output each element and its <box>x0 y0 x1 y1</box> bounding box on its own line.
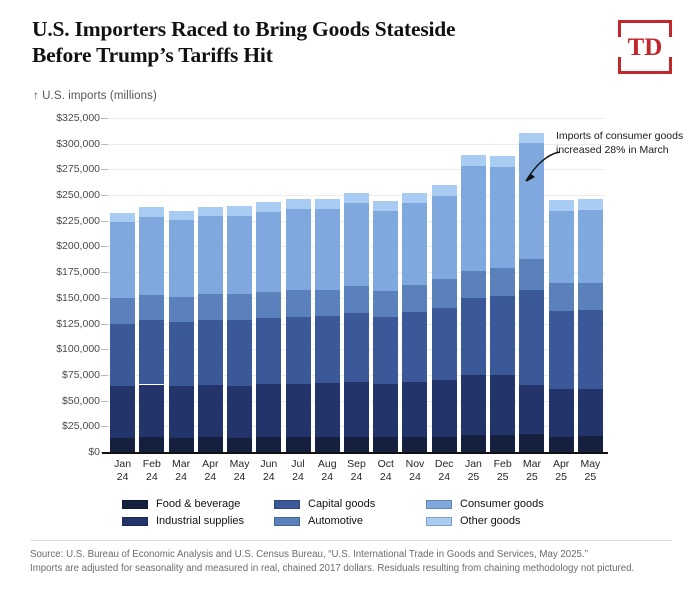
bar-segment-other-goods <box>286 199 311 209</box>
x-axis-labels: Jan24Feb24Mar24Apr24May24Jun24Jul24Aug24… <box>108 458 605 488</box>
y-axis-tick-label: $25,000 <box>4 421 100 431</box>
bar-segment-capital-goods <box>110 324 135 387</box>
legend-label: Industrial supplies <box>156 515 244 527</box>
bar-segment-capital-goods <box>490 296 515 375</box>
bar-segment-other-goods <box>402 193 427 203</box>
bar-segment-automotive <box>549 283 574 311</box>
bar-segment-capital-goods <box>373 317 398 384</box>
bar-segment-industrial-supplies <box>549 389 574 436</box>
legend-swatch <box>122 517 148 526</box>
legend-label: Capital goods <box>308 498 375 510</box>
y-axis-tick-mark <box>101 426 108 427</box>
bar-segment-automotive <box>490 268 515 296</box>
bar-segment-other-goods <box>519 133 544 143</box>
bar-segment-automotive <box>373 291 398 317</box>
bar-segment-industrial-supplies <box>402 382 427 436</box>
bar-segment-other-goods <box>315 199 340 209</box>
bar-segment-automotive <box>402 285 427 312</box>
x-axis-tick-label: May25 <box>570 458 610 483</box>
legend-item-consumer-goods[interactable]: Consumer goods <box>426 498 578 510</box>
bar-segment-industrial-supplies <box>169 386 194 438</box>
bar-segment-capital-goods <box>461 298 486 375</box>
legend-row-1: Food & beverageCapital goodsConsumer goo… <box>122 498 578 510</box>
bar-segment-other-goods <box>139 207 164 217</box>
legend-item-capital-goods[interactable]: Capital goods <box>274 498 426 510</box>
footer-divider <box>30 540 672 541</box>
bar-segment-capital-goods <box>227 320 252 385</box>
y-axis-tick-label: $125,000 <box>4 319 100 329</box>
bar-segment-capital-goods <box>139 320 164 384</box>
bar-segment-consumer-goods <box>461 166 486 271</box>
bar-segment-food-beverage <box>549 437 574 452</box>
y-axis-tick-label: $325,000 <box>4 113 100 123</box>
y-axis-tick-label: $300,000 <box>4 139 100 149</box>
bar-segment-industrial-supplies <box>461 375 486 435</box>
bar-segment-automotive <box>578 283 603 310</box>
y-axis-tick-mark <box>101 118 108 119</box>
bar-segment-food-beverage <box>315 437 340 452</box>
legend-row-2: Industrial suppliesAutomotiveOther goods <box>122 515 578 527</box>
legend-label: Food & beverage <box>156 498 240 510</box>
bar-segment-industrial-supplies <box>432 380 457 437</box>
bar-segment-automotive <box>169 297 194 322</box>
bar-segment-consumer-goods <box>139 217 164 295</box>
bar-segment-capital-goods <box>578 310 603 389</box>
bar-segment-automotive <box>519 259 544 290</box>
source-line-2: Imports are adjusted for seasonality and… <box>30 562 678 576</box>
bar-segment-automotive <box>344 286 369 313</box>
y-axis-tick-label: $200,000 <box>4 241 100 251</box>
x-axis-line <box>102 452 608 454</box>
legend-swatch <box>122 500 148 509</box>
bar-segment-consumer-goods <box>256 212 281 292</box>
legend-swatch <box>274 517 300 526</box>
bar-segment-food-beverage <box>139 437 164 452</box>
bar-segment-other-goods <box>549 200 574 210</box>
source-note: Source: U.S. Bureau of Economic Analysis… <box>30 548 678 575</box>
legend-item-food-beverage[interactable]: Food & beverage <box>122 498 274 510</box>
bar-segment-capital-goods <box>256 318 281 384</box>
y-axis-tick-label: $150,000 <box>4 293 100 303</box>
bar-segment-industrial-supplies <box>315 383 340 437</box>
bar-segment-automotive <box>256 292 281 318</box>
legend-item-industrial-supplies[interactable]: Industrial supplies <box>122 515 274 527</box>
bar-segment-automotive <box>461 271 486 298</box>
bar-segment-industrial-supplies <box>373 384 398 437</box>
bar-segment-consumer-goods <box>549 211 574 284</box>
y-axis-tick-mark <box>101 169 108 170</box>
bar-segment-consumer-goods <box>198 216 223 294</box>
y-axis-tick-label: $100,000 <box>4 344 100 354</box>
y-axis-tick-label: $50,000 <box>4 396 100 406</box>
bar-segment-food-beverage <box>373 437 398 452</box>
legend-label: Consumer goods <box>460 498 544 510</box>
bar-segment-capital-goods <box>519 290 544 385</box>
y-axis-tick-label: $175,000 <box>4 267 100 277</box>
bar-segment-food-beverage <box>578 436 603 452</box>
bar-segment-other-goods <box>110 213 135 222</box>
y-axis-tick-mark <box>101 401 108 402</box>
bar-segment-consumer-goods <box>110 222 135 299</box>
bar-segment-other-goods <box>578 199 603 210</box>
annotation-line-2: increased 28% in March <box>556 144 700 158</box>
bar-segment-other-goods <box>373 201 398 210</box>
bar-segment-food-beverage <box>169 438 194 452</box>
y-axis-tick-mark <box>101 349 108 350</box>
legend-item-automotive[interactable]: Automotive <box>274 515 426 527</box>
bar-segment-consumer-goods <box>315 209 340 290</box>
y-axis-tick-mark <box>101 144 108 145</box>
chart-legend: Food & beverageCapital goodsConsumer goo… <box>0 498 700 527</box>
legend-swatch <box>426 500 452 509</box>
bar-segment-consumer-goods <box>373 211 398 291</box>
bar-segment-automotive <box>286 290 311 317</box>
bar-segment-consumer-goods <box>578 210 603 283</box>
chart-page: U.S. Importers Raced to Bring Goods Stat… <box>0 0 700 594</box>
y-axis-tick-label: $275,000 <box>4 164 100 174</box>
legend-swatch <box>426 517 452 526</box>
bar-segment-food-beverage <box>344 437 369 452</box>
legend-label: Automotive <box>308 515 363 527</box>
bar-segment-other-goods <box>432 185 457 196</box>
y-axis-tick-mark <box>101 221 108 222</box>
x-label-month: May <box>570 458 610 471</box>
y-axis-tick-mark <box>101 246 108 247</box>
y-axis-tick-mark <box>101 195 108 196</box>
y-axis-tick-label: $0 <box>4 447 100 457</box>
bar-segment-food-beverage <box>519 434 544 452</box>
bar-segment-food-beverage <box>110 438 135 452</box>
bar-segment-consumer-goods <box>227 216 252 295</box>
bar-segment-automotive <box>315 290 340 316</box>
bar-segment-capital-goods <box>344 313 369 382</box>
chart-annotation: Imports of consumer goods increased 28% … <box>556 130 700 157</box>
bar-segment-automotive <box>227 294 252 320</box>
bar-segment-consumer-goods <box>402 203 427 285</box>
y-axis-tick-mark <box>101 272 108 273</box>
bar-segment-other-goods <box>461 155 486 166</box>
bar-segment-capital-goods <box>169 322 194 386</box>
bar-segment-capital-goods <box>198 320 223 385</box>
bar-segment-other-goods <box>198 207 223 216</box>
bar-segment-automotive <box>432 279 457 308</box>
bar-segment-industrial-supplies <box>344 382 369 436</box>
bar-segment-automotive <box>198 294 223 320</box>
y-axis-tick-label: $75,000 <box>4 370 100 380</box>
bar-segment-industrial-supplies <box>110 386 135 437</box>
y-axis-tick-mark <box>101 324 108 325</box>
bar-segment-food-beverage <box>432 437 457 452</box>
y-axis-tick-label: $225,000 <box>4 216 100 226</box>
y-axis-tick-mark <box>101 375 108 376</box>
y-axis-tick-mark <box>101 298 108 299</box>
bar-segment-industrial-supplies <box>198 385 223 437</box>
bar-segment-industrial-supplies <box>490 375 515 434</box>
bar-segment-consumer-goods <box>286 209 311 290</box>
bar-segment-other-goods <box>169 211 194 220</box>
bar-segment-consumer-goods <box>344 203 369 286</box>
bar-segment-capital-goods <box>432 308 457 380</box>
bar-segment-other-goods <box>256 202 281 211</box>
bar-segment-food-beverage <box>198 437 223 452</box>
bar-segment-industrial-supplies <box>578 389 603 437</box>
legend-swatch <box>274 500 300 509</box>
bar-segment-capital-goods <box>286 317 311 384</box>
bar-segment-capital-goods <box>315 316 340 383</box>
bar-segment-automotive <box>139 295 164 321</box>
bar-segment-food-beverage <box>256 437 281 452</box>
bar-segment-other-goods <box>344 193 369 203</box>
annotation-line-1: Imports of consumer goods <box>556 130 700 144</box>
bar-segment-industrial-supplies <box>139 385 164 438</box>
legend-label: Other goods <box>460 515 521 527</box>
bar-segment-capital-goods <box>549 311 574 389</box>
bar-segment-food-beverage <box>461 435 486 452</box>
bar-segment-automotive <box>110 298 135 323</box>
bar-segment-capital-goods <box>402 312 427 382</box>
bar-segment-other-goods <box>227 206 252 216</box>
legend-item-other-goods[interactable]: Other goods <box>426 515 578 527</box>
stacked-bar-chart: $325,000$300,000$275,000$250,000$225,000… <box>0 0 700 594</box>
bar-segment-food-beverage <box>227 438 252 452</box>
bar-segment-consumer-goods <box>432 196 457 279</box>
bar-segment-food-beverage <box>490 435 515 452</box>
y-axis-tick-label: $250,000 <box>4 190 100 200</box>
bar-segment-industrial-supplies <box>519 385 544 434</box>
bar-segment-food-beverage <box>286 437 311 452</box>
x-label-year: 25 <box>570 471 610 484</box>
bar-segment-industrial-supplies <box>286 384 311 437</box>
bar-segment-food-beverage <box>402 437 427 452</box>
bar-segment-consumer-goods <box>169 220 194 297</box>
logo-text: TD <box>625 35 666 60</box>
bar-segment-industrial-supplies <box>227 386 252 438</box>
source-line-1: Source: U.S. Bureau of Economic Analysis… <box>30 548 678 562</box>
bar-segment-industrial-supplies <box>256 384 281 437</box>
